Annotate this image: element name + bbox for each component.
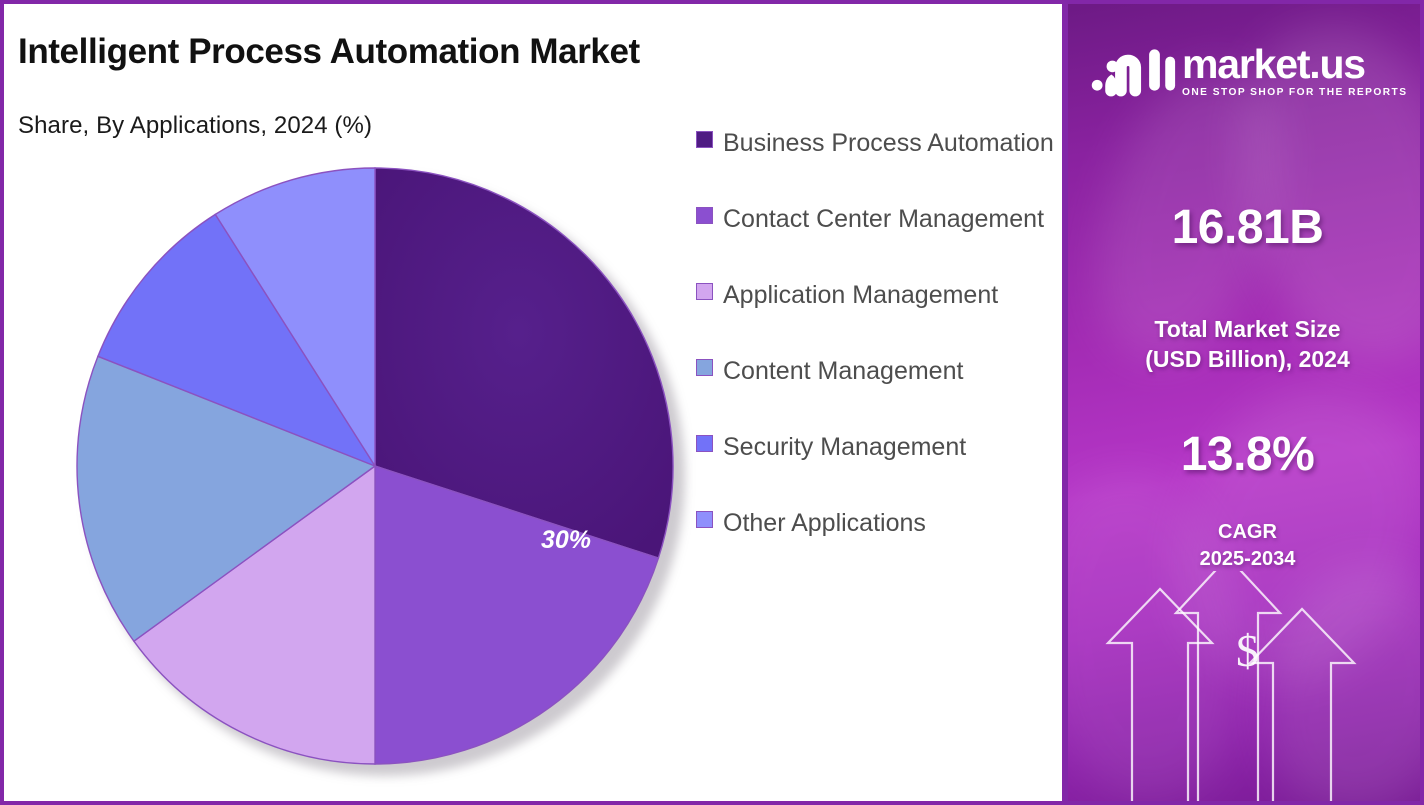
chart-legend: Business Process AutomationContact Cente… — [696, 124, 1058, 580]
legend-item-3[interactable]: Content Management — [696, 352, 1058, 390]
brand-logo: market.us ONE STOP SHOP FOR THE REPORTS — [1090, 42, 1408, 98]
legend-item-0[interactable]: Business Process Automation — [696, 124, 1058, 162]
stat-panel: market.us ONE STOP SHOP FOR THE REPORTS … — [1065, 0, 1424, 805]
legend-item-4[interactable]: Security Management — [696, 428, 1058, 466]
logo-wordmark: market.us — [1182, 42, 1407, 86]
market-size-caption: Total Market Size (USD Billion), 2024 — [1068, 314, 1424, 374]
market-size-caption-line1: Total Market Size — [1068, 314, 1424, 344]
cagr-caption: CAGR 2025-2034 — [1068, 519, 1424, 573]
legend-label: Security Management — [723, 428, 966, 466]
market-size-caption-line2: (USD Billion), 2024 — [1068, 344, 1424, 374]
cagr-caption-line2: 2025-2034 — [1068, 546, 1424, 573]
chart-panel: Intelligent Process Automation Market Sh… — [0, 0, 1065, 805]
legend-swatch-icon — [696, 283, 713, 300]
legend-item-1[interactable]: Contact Center Management — [696, 200, 1058, 238]
legend-item-5[interactable]: Other Applications — [696, 504, 1058, 542]
logo-tagline: ONE STOP SHOP FOR THE REPORTS — [1182, 87, 1407, 98]
legend-label: Other Applications — [723, 504, 926, 542]
pie-data-label-0: 30% — [541, 526, 591, 555]
legend-swatch-icon — [696, 359, 713, 376]
legend-label: Application Management — [723, 276, 998, 314]
legend-label: Content Management — [723, 352, 963, 390]
chart-subtitle: Share, By Applications, 2024 (%) — [18, 112, 372, 140]
pie-slice-group — [77, 168, 673, 764]
legend-swatch-icon — [696, 207, 713, 224]
growth-arrows-icon — [1068, 571, 1424, 801]
legend-item-2[interactable]: Application Management — [696, 276, 1058, 314]
legend-label: Business Process Automation — [723, 124, 1054, 162]
market-size-value: 16.81B — [1068, 200, 1424, 255]
infographic-root: Intelligent Process Automation Market Sh… — [0, 0, 1424, 805]
page-title: Intelligent Process Automation Market — [18, 32, 640, 72]
legend-swatch-icon — [696, 435, 713, 452]
market-us-logo-icon — [1090, 42, 1176, 98]
pie-chart: 30% — [75, 166, 683, 776]
legend-swatch-icon — [696, 131, 713, 148]
cagr-caption-line1: CAGR — [1068, 519, 1424, 546]
legend-label: Contact Center Management — [723, 200, 1044, 238]
pie-svg — [75, 166, 683, 776]
legend-swatch-icon — [696, 511, 713, 528]
cagr-value: 13.8% — [1068, 427, 1424, 482]
